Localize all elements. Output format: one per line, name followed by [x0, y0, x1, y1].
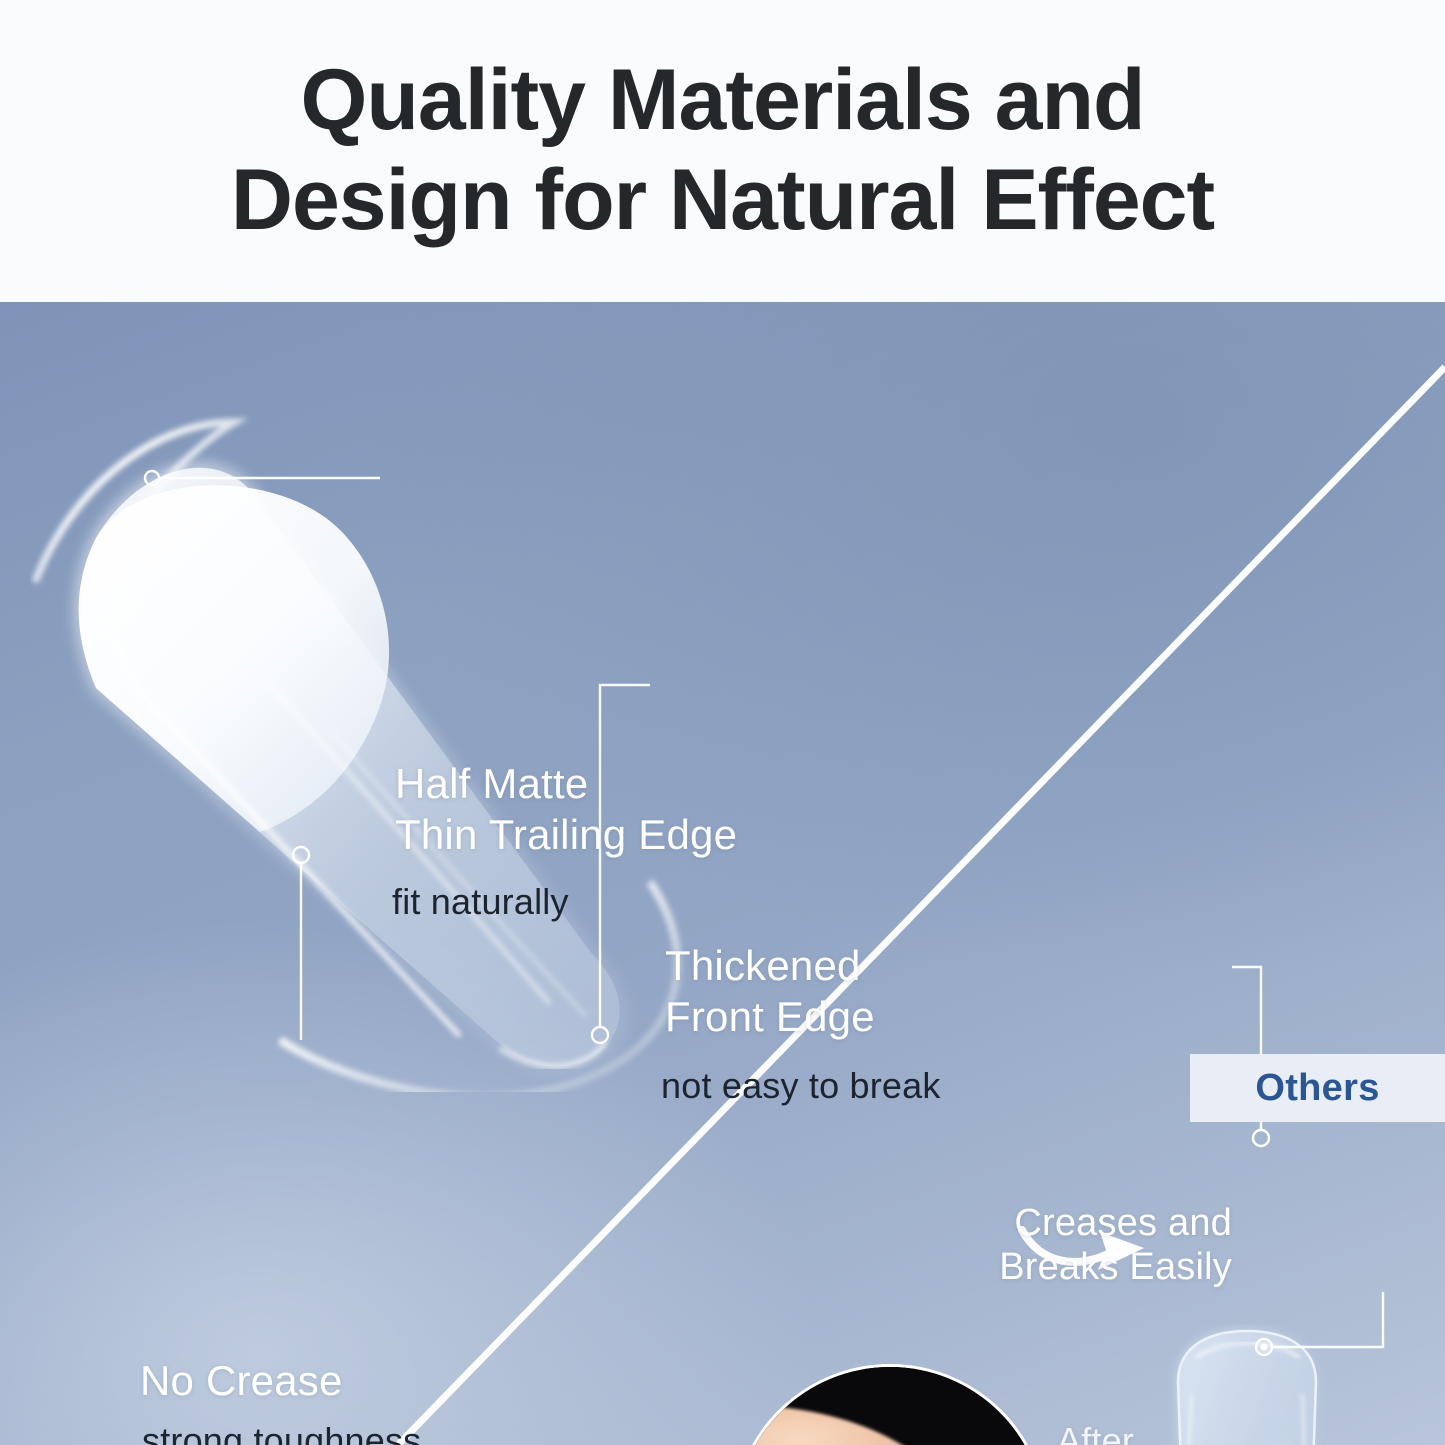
callout-after-bend-title: After Bend: [1057, 1420, 1142, 1445]
page-title: Quality Materials and Design for Natural…: [93, 51, 1353, 251]
connector-half-matte: [145, 471, 380, 485]
header-banner: Quality Materials and Design for Natural…: [0, 0, 1445, 302]
brand-badge-others-label: Others: [1255, 1067, 1379, 1110]
callout-thickened-front-edge-title: Thickened Front Edge: [665, 940, 875, 1042]
callout-creases-breaks-title: Creases and Breaks Easily: [972, 1202, 1232, 1289]
infographic-page: Quality Materials and Design for Natural…: [0, 0, 1445, 1445]
brand-badge-others: Others: [1190, 1054, 1445, 1122]
bend-demo-photo-content: [735, 1367, 1045, 1445]
callout-half-matte-subtitle: fit naturally: [392, 880, 569, 923]
modelones-nail-tip-image: [30, 412, 730, 1092]
comparison-panel: Half Matte Thin Trailing Edge fit natura…: [0, 302, 1445, 1445]
connector-thickened-front-edge: [592, 685, 650, 1043]
others-abs-nail-tip-image: [1152, 1324, 1342, 1445]
callout-no-crease-subtitle: strong toughness: [142, 1419, 421, 1445]
connector-abs: [1256, 1292, 1383, 1355]
bend-demo-photo: [732, 1364, 1048, 1445]
connector-no-crease: [293, 847, 309, 1040]
callout-thickened-front-edge-subtitle: not easy to break: [661, 1064, 941, 1107]
callout-no-crease-title: No Crease: [140, 1355, 343, 1406]
callout-half-matte-title: Half Matte Thin Trailing Edge: [395, 758, 737, 860]
